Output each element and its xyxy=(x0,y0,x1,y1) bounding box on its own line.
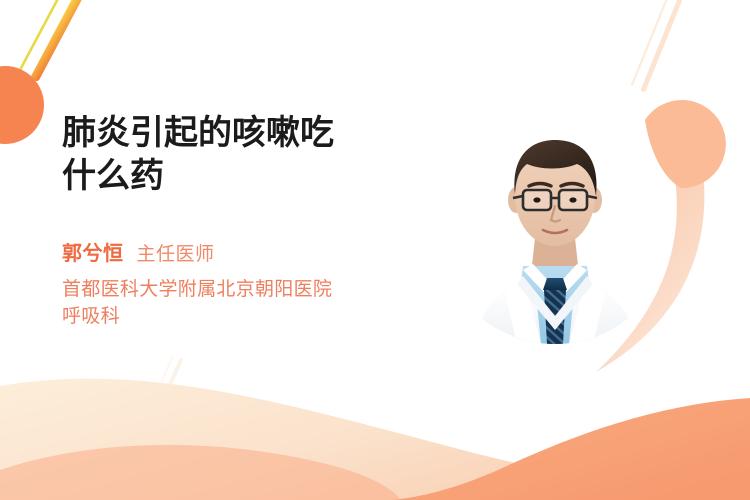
diagonal-stripes-middle xyxy=(154,355,184,398)
doctor-info-card: 肺炎引起的咳嗽吃 什么药 郭兮恒 主任医师 首都医科大学附属北京朝阳医院 呼吸科 xyxy=(0,0,750,500)
light-peach-wave xyxy=(0,379,750,500)
orange-circle-left xyxy=(0,66,44,144)
doctor-name: 郭兮恒 xyxy=(62,237,124,266)
yellow-striped-semicircle xyxy=(437,108,673,344)
doctor-rank: 主任医师 xyxy=(137,239,215,266)
diagonal-stripes-top-left xyxy=(15,0,89,82)
orange-wave-overlap xyxy=(0,445,400,500)
text-block: 肺炎引起的咳嗽吃 什么药 郭兮恒 主任医师 首都医科大学附属北京朝阳医院 呼吸科 xyxy=(62,112,422,331)
diagonal-stripes-top-right xyxy=(631,0,691,93)
doctor-affiliation: 首都医科大学附属北京朝阳医院 呼吸科 xyxy=(62,277,422,331)
doctor-byline: 郭兮恒 主任医师 xyxy=(62,237,422,266)
doctor-portrait xyxy=(437,108,673,344)
orange-wave xyxy=(392,398,750,500)
page-title: 肺炎引起的咳嗽吃 什么药 xyxy=(62,112,422,198)
